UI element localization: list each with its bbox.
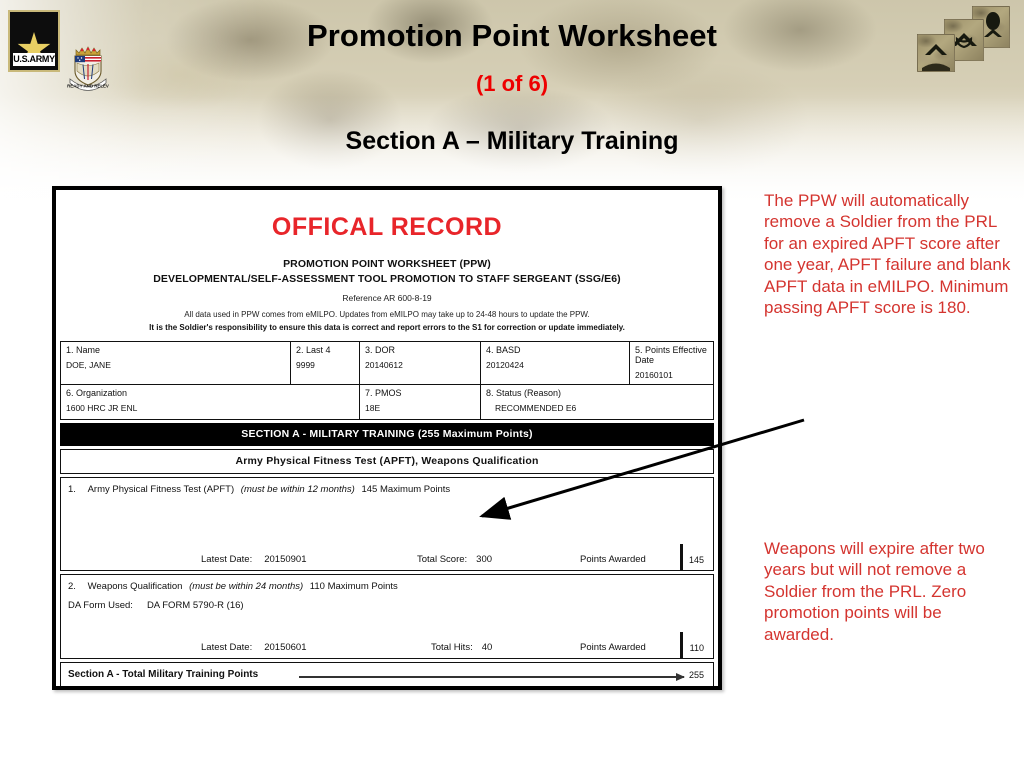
apft-metric-row: Latest Date:20150901 Total Score:300 Poi… — [61, 535, 713, 570]
label-name: 1. Name — [66, 345, 285, 355]
callout-apft-text: The PPW will automatically remove a Sold… — [764, 190, 1012, 318]
weapons-latest-date-value: 20150601 — [264, 642, 306, 653]
label-status: 8. Status (Reason) — [486, 388, 708, 398]
cell-status: 8. Status (Reason) RECOMMENDED E6 — [481, 385, 714, 420]
cell-dor: 3. DOR 20140612 — [360, 342, 481, 385]
section-heading: Section A – Military Training — [0, 127, 1024, 156]
label-organization: 6. Organization — [66, 388, 354, 398]
apft-latest-date: Latest Date:20150901 — [201, 554, 307, 565]
label-basd: 4. BASD — [486, 345, 624, 355]
weapons-title: Weapons Qualification — [88, 581, 183, 592]
soldier-info-table: 1. Name DOE, JANE 2. Last 4 9999 3. DOR … — [60, 341, 714, 420]
weapons-title-tail: 110 Maximum Points — [310, 581, 398, 592]
slide-subtitle: (1 of 6) — [0, 71, 1024, 97]
value-last4: 9999 — [296, 360, 354, 370]
arrow-right-icon — [299, 676, 684, 678]
apft-latest-date-label: Latest Date: — [201, 554, 252, 565]
apft-title-row: 1. Army Physical Fitness Test (APFT) (mu… — [61, 478, 713, 495]
apft-total-score: Total Score:300 — [417, 554, 492, 565]
doc-note-emilpo: All data used in PPW comes from eMILPO. … — [56, 310, 718, 319]
doc-reference: Reference AR 600-8-19 — [56, 293, 718, 303]
label-points-effective-date: 5. Points Effective Date — [635, 345, 708, 365]
apft-num: 1. — [68, 484, 76, 495]
cell-last4: 2. Last 4 9999 — [291, 342, 360, 385]
doc-heading-line2: DEVELOPMENTAL/SELF-ASSESSMENT TOOL PROMO… — [56, 273, 718, 285]
section-a-total-label: Section A - Total Military Training Poin… — [68, 669, 258, 680]
weapons-title-italic: (must be within 24 months) — [189, 581, 303, 592]
apft-total-score-value: 300 — [476, 554, 492, 565]
cell-pmos: 7. PMOS 18E — [360, 385, 481, 420]
weapons-divider — [680, 632, 683, 658]
apft-points-awarded-label: Points Awarded — [580, 554, 646, 565]
slide-title: Promotion Point Worksheet — [0, 18, 1024, 54]
value-basd: 20120424 — [486, 360, 624, 370]
weapons-points-value: 110 — [690, 643, 704, 653]
weapons-title-row: 2. Weapons Qualification (must be within… — [61, 575, 713, 592]
weapons-total-hits-label: Total Hits: — [431, 642, 473, 653]
cell-basd: 4. BASD 20120424 — [481, 342, 630, 385]
value-status: RECOMMENDED E6 — [495, 403, 708, 413]
section-a-total-row: Section A - Total Military Training Poin… — [60, 662, 714, 689]
section-a-total-value: 255 — [689, 670, 704, 680]
weapons-total-hits: Total Hits:40 — [431, 642, 492, 653]
apft-block: 1. Army Physical Fitness Test (APFT) (mu… — [60, 477, 714, 571]
table-row: 1. Name DOE, JANE 2. Last 4 9999 3. DOR … — [61, 342, 714, 385]
label-last4: 2. Last 4 — [296, 345, 354, 355]
apft-points-value: 145 — [689, 555, 704, 565]
official-record-stamp: OFFICAL RECORD — [56, 213, 718, 242]
cell-name: 1. Name DOE, JANE — [61, 342, 291, 385]
weapons-points-awarded-label: Points Awarded — [580, 642, 646, 653]
weapons-da-form-label: DA Form Used: — [68, 600, 133, 611]
label-dor: 3. DOR — [365, 345, 475, 355]
value-name: DOE, JANE — [66, 360, 285, 370]
army-wordmark-label: U.S.ARMY — [13, 53, 55, 66]
cell-points-effective-date: 5. Points Effective Date 20160101 — [630, 342, 714, 385]
ppw-document-card: OFFICAL RECORD PROMOTION POINT WORKSHEET… — [52, 186, 722, 690]
value-pmos: 18E — [365, 403, 475, 413]
apft-latest-date-value: 20150901 — [264, 554, 306, 565]
apft-title-italic: (must be within 12 months) — [241, 484, 355, 495]
weapons-metric-row: Latest Date:20150601 Total Hits:40 Point… — [61, 623, 713, 658]
section-a-subbar: Army Physical Fitness Test (APFT), Weapo… — [60, 449, 714, 474]
value-organization: 1600 HRC JR ENL — [66, 403, 354, 413]
weapons-latest-date: Latest Date:20150601 — [201, 642, 307, 653]
apft-title-tail: 145 Maximum Points — [361, 484, 450, 495]
doc-note-responsibility: It is the Soldier's responsibility to en… — [56, 323, 718, 332]
label-pmos: 7. PMOS — [365, 388, 475, 398]
apft-title: Army Physical Fitness Test (APFT) — [88, 484, 235, 495]
weapons-da-form-row: DA Form Used:DA FORM 5790-R (16) — [61, 592, 713, 611]
weapons-latest-date-label: Latest Date: — [201, 642, 252, 653]
weapons-da-form-value: DA FORM 5790-R (16) — [147, 600, 244, 611]
apft-divider — [680, 544, 683, 570]
weapons-num: 2. — [68, 581, 76, 592]
cell-organization: 6. Organization 1600 HRC JR ENL — [61, 385, 360, 420]
value-points-effective-date: 20160101 — [635, 370, 708, 380]
apft-total-score-label: Total Score: — [417, 554, 467, 565]
callout-weapons-text: Weapons will expire after two years but … — [764, 538, 1012, 645]
value-dor: 20140612 — [365, 360, 475, 370]
doc-heading-line1: PROMOTION POINT WORKSHEET (PPW) — [56, 258, 718, 270]
weapons-total-hits-value: 40 — [482, 642, 493, 653]
weapons-block: 2. Weapons Qualification (must be within… — [60, 574, 714, 659]
section-a-bar: SECTION A - MILITARY TRAINING (255 Maxim… — [60, 423, 714, 446]
table-row: 6. Organization 1600 HRC JR ENL 7. PMOS … — [61, 385, 714, 420]
